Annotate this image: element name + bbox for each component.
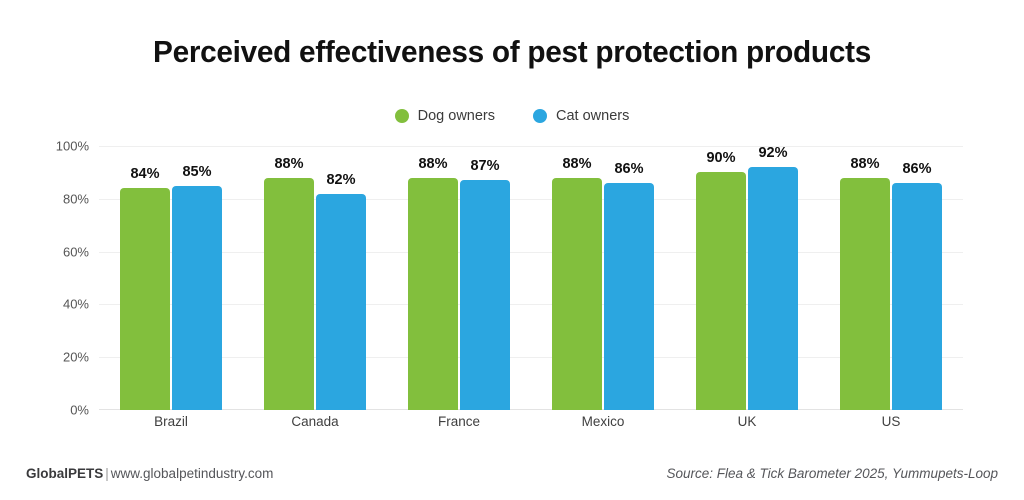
bar-value-label-brazil-dog: 84% bbox=[130, 166, 159, 182]
bar-group-uk: 90%92% bbox=[675, 146, 819, 410]
bar-us-dog[interactable]: 88% bbox=[840, 178, 890, 410]
x-tick-label-brazil: Brazil bbox=[154, 414, 188, 429]
chart-figure: Perceived effectiveness of pest protecti… bbox=[0, 0, 1024, 500]
bar-uk-cat[interactable]: 92% bbox=[748, 167, 798, 410]
footer-website[interactable]: www.globalpetindustry.com bbox=[111, 466, 274, 481]
y-tick-label-0: 0% bbox=[35, 403, 89, 418]
bar-value-label-canada-dog: 88% bbox=[274, 156, 303, 172]
y-tick-label-20: 20% bbox=[35, 350, 89, 365]
y-axis-tick-labels: 0%20%40%60%80%100% bbox=[33, 146, 89, 410]
bar-france-cat[interactable]: 87% bbox=[460, 180, 510, 410]
x-tick-label-canada: Canada bbox=[291, 414, 338, 429]
bar-brazil-dog[interactable]: 84% bbox=[120, 188, 170, 410]
bar-value-label-france-cat: 87% bbox=[470, 158, 499, 174]
bar-canada-dog[interactable]: 88% bbox=[264, 178, 314, 410]
bar-us-cat[interactable]: 86% bbox=[892, 183, 942, 410]
footer-source: Source: Flea & Tick Barometer 2025, Yumm… bbox=[666, 466, 998, 481]
footer-brand-name: GlobalPETS bbox=[26, 466, 103, 481]
bar-group-france: 88%87% bbox=[387, 146, 531, 410]
bar-group-mexico: 88%86% bbox=[531, 146, 675, 410]
plot-wrapper: 0%20%40%60%80%100% 84%85%88%82%88%87%88%… bbox=[0, 0, 1024, 500]
footer-separator: | bbox=[103, 466, 111, 481]
x-tick-label-france: France bbox=[438, 414, 480, 429]
y-tick-label-40: 40% bbox=[35, 297, 89, 312]
y-tick-label-80: 80% bbox=[35, 191, 89, 206]
bar-value-label-us-cat: 86% bbox=[902, 161, 931, 177]
bar-mexico-cat[interactable]: 86% bbox=[604, 183, 654, 410]
bar-value-label-uk-cat: 92% bbox=[758, 145, 787, 161]
bar-value-label-mexico-cat: 86% bbox=[614, 161, 643, 177]
x-tick-label-us: US bbox=[882, 414, 901, 429]
bar-value-label-mexico-dog: 88% bbox=[562, 156, 591, 172]
bar-group-brazil: 84%85% bbox=[99, 146, 243, 410]
bar-value-label-france-dog: 88% bbox=[418, 156, 447, 172]
footer-brand: GlobalPETS|www.globalpetindustry.com bbox=[26, 466, 273, 481]
bar-france-dog[interactable]: 88% bbox=[408, 178, 458, 410]
x-tick-label-uk: UK bbox=[738, 414, 757, 429]
y-tick-label-100: 100% bbox=[35, 139, 89, 154]
bar-group-canada: 88%82% bbox=[243, 146, 387, 410]
bar-group-us: 88%86% bbox=[819, 146, 963, 410]
bar-value-label-uk-dog: 90% bbox=[706, 150, 735, 166]
bar-brazil-cat[interactable]: 85% bbox=[172, 186, 222, 410]
bar-value-label-canada-cat: 82% bbox=[326, 172, 355, 188]
bar-uk-dog[interactable]: 90% bbox=[696, 172, 746, 410]
bar-value-label-us-dog: 88% bbox=[850, 156, 879, 172]
y-tick-label-60: 60% bbox=[35, 244, 89, 259]
bar-canada-cat[interactable]: 82% bbox=[316, 194, 366, 410]
bar-value-label-brazil-cat: 85% bbox=[182, 164, 211, 180]
bar-groups: 84%85%88%82%88%87%88%86%90%92%88%86% bbox=[99, 146, 963, 410]
bar-mexico-dog[interactable]: 88% bbox=[552, 178, 602, 410]
x-tick-label-mexico: Mexico bbox=[582, 414, 625, 429]
x-axis-tick-labels: BrazilCanadaFranceMexicoUKUS bbox=[99, 414, 963, 438]
